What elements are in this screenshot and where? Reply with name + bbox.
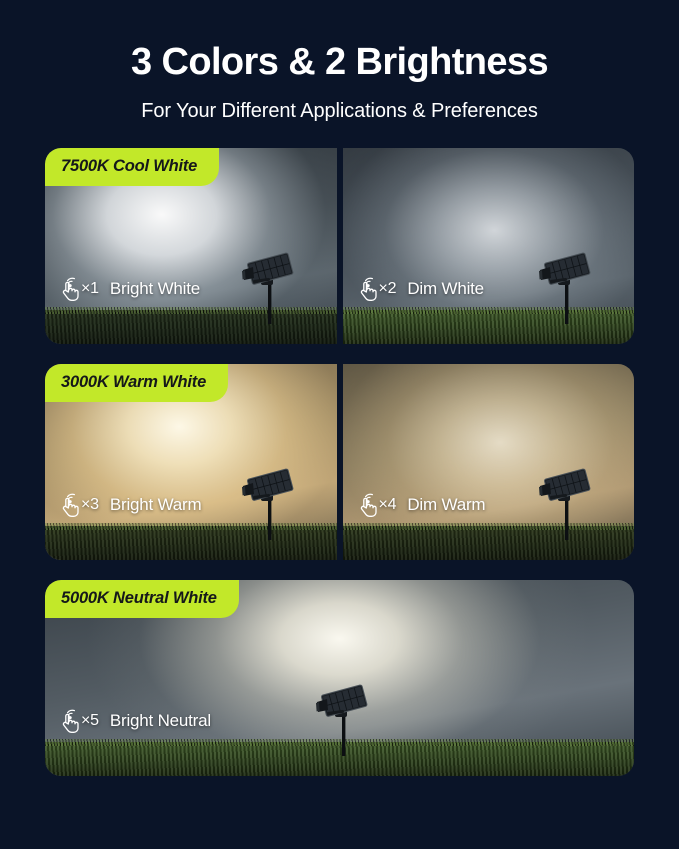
solar-light-fixture [229,238,303,324]
mode-panel-bright-neutral: 5000K Neutral White ×5 Bright Neutral [45,580,634,776]
mode-panel-bright-warm: 3000K Warm White ×3 Bright Warm [45,364,337,560]
solar-light-fixture [526,454,600,540]
mode-panel-dim-white: ×2 Dim White [343,148,635,344]
caption-dim-white: ×2 Dim White [357,277,484,302]
mode-label: Dim Warm [407,495,485,515]
tap-count: ×1 [81,280,99,298]
solar-light-fixture [229,454,303,540]
badge-warm-white: 3000K Warm White [45,364,228,402]
mode-label: Bright Warm [110,495,202,515]
tap-count: ×4 [379,496,397,514]
color-mode-rows: 7500K Cool White ×1 Bright White [0,148,679,776]
mode-label: Bright Neutral [110,711,211,731]
tap-count: ×2 [379,280,397,298]
page-title: 3 Colors & 2 Brightness [0,42,679,84]
color-row-warm-white: 3000K Warm White ×3 Bright Warm [45,364,634,560]
tap-hand-icon [59,493,80,518]
tap-hand-icon [59,709,80,734]
caption-bright-white: ×1 Bright White [59,277,200,302]
caption-bright-neutral: ×5 Bright Neutral [59,709,211,734]
caption-dim-warm: ×4 Dim Warm [357,493,486,518]
solar-light-fixture [303,670,377,756]
mode-label: Dim White [407,279,484,299]
tap-count: ×5 [81,712,99,730]
solar-light-fixture [526,238,600,324]
tap-hand-icon [59,277,80,302]
page-subtitle: For Your Different Applications & Prefer… [0,100,679,123]
mode-panel-dim-warm: ×4 Dim Warm [343,364,635,560]
tap-count: ×3 [81,496,99,514]
tap-hand-icon [357,493,378,518]
color-row-cool-white: 7500K Cool White ×1 Bright White [45,148,634,344]
tap-hand-icon [357,277,378,302]
caption-bright-warm: ×3 Bright Warm [59,493,201,518]
badge-cool-white: 7500K Cool White [45,148,219,186]
mode-panel-bright-white: 7500K Cool White ×1 Bright White [45,148,337,344]
header: 3 Colors & 2 Brightness For Your Differe… [0,0,679,123]
color-row-neutral-white: 5000K Neutral White ×5 Bright Neutral [45,580,634,776]
badge-neutral-white: 5000K Neutral White [45,580,239,618]
mode-label: Bright White [110,279,200,299]
infographic-page: 3 Colors & 2 Brightness For Your Differe… [0,0,679,849]
